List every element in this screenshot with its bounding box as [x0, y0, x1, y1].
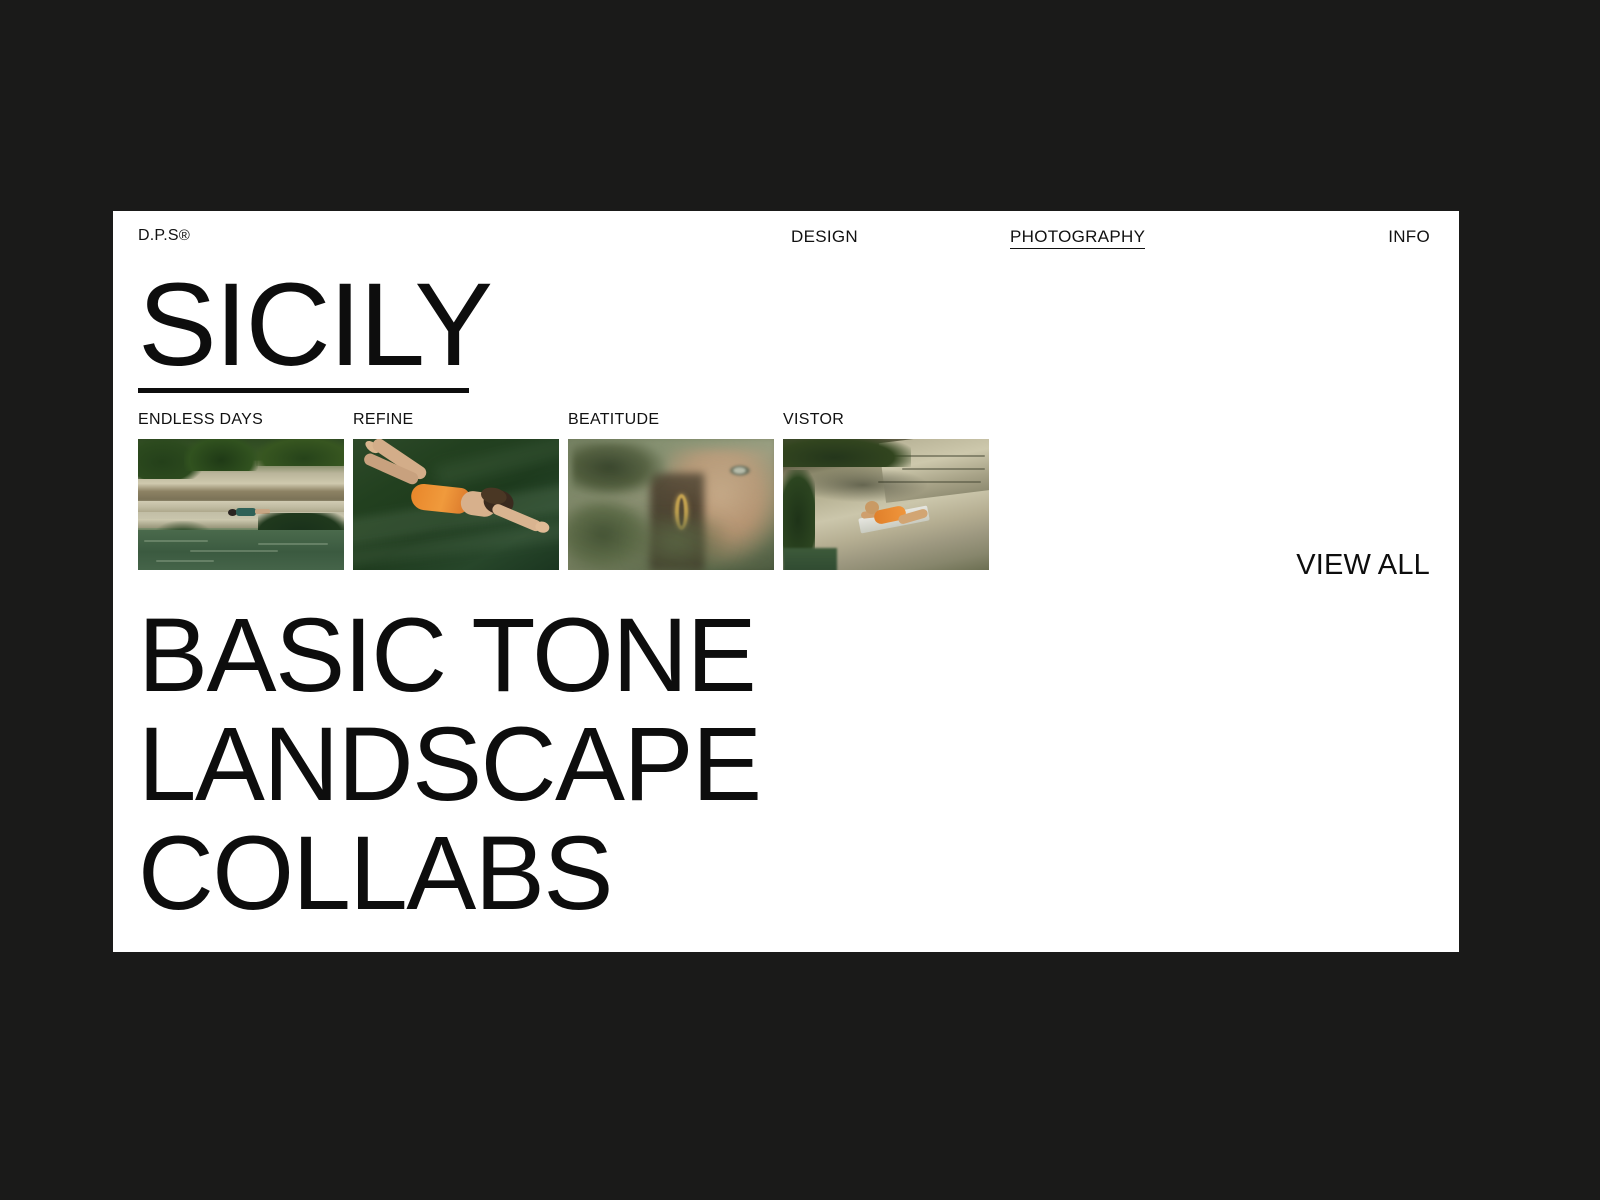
content-card: D.P.S® DESIGN PHOTOGRAPHY INFO SICILY EN…: [113, 211, 1459, 952]
thumbnail-strip: ENDLESS DAYS: [138, 411, 989, 570]
thumbnail-image-refine[interactable]: [353, 439, 559, 570]
thumbnail-caption: VISTOR: [783, 411, 989, 429]
thumbnail-image-endless-days[interactable]: [138, 439, 344, 570]
thumbnail-caption: REFINE: [353, 411, 559, 429]
thumbnail-caption: BEATITUDE: [568, 411, 774, 429]
headline-line-3: COLLABS: [138, 819, 761, 928]
brand-name: D.P.S: [138, 227, 179, 244]
thumbnail-image-beatitude[interactable]: [568, 439, 774, 570]
headline-line-1: BASIC TONE: [138, 601, 761, 710]
headline-line-2: LANDSCAPE: [138, 710, 761, 819]
thumbnail-image-vistor[interactable]: [783, 439, 989, 570]
gallery-item[interactable]: ENDLESS DAYS: [138, 411, 344, 570]
page-root: D.P.S® DESIGN PHOTOGRAPHY INFO SICILY EN…: [0, 0, 1600, 1200]
hero-title-block: SICILY: [138, 271, 491, 393]
view-all-link[interactable]: VIEW ALL: [1296, 549, 1430, 582]
nav-item-photography[interactable]: PHOTOGRAPHY: [1010, 227, 1145, 249]
nav-item-design[interactable]: DESIGN: [791, 227, 858, 247]
gallery-item[interactable]: BEATITUDE: [568, 411, 774, 570]
registered-trademark-icon: ®: [179, 227, 190, 244]
thumbnail-caption: ENDLESS DAYS: [138, 411, 344, 429]
gallery-item[interactable]: REFINE: [353, 411, 559, 570]
brand-logo[interactable]: D.P.S®: [138, 227, 190, 245]
page-headline: BASIC TONE LANDSCAPE COLLABS: [138, 601, 761, 928]
hero-title[interactable]: SICILY: [138, 271, 491, 379]
gallery-item[interactable]: VISTOR: [783, 411, 989, 570]
nav-item-info[interactable]: INFO: [1388, 227, 1430, 247]
